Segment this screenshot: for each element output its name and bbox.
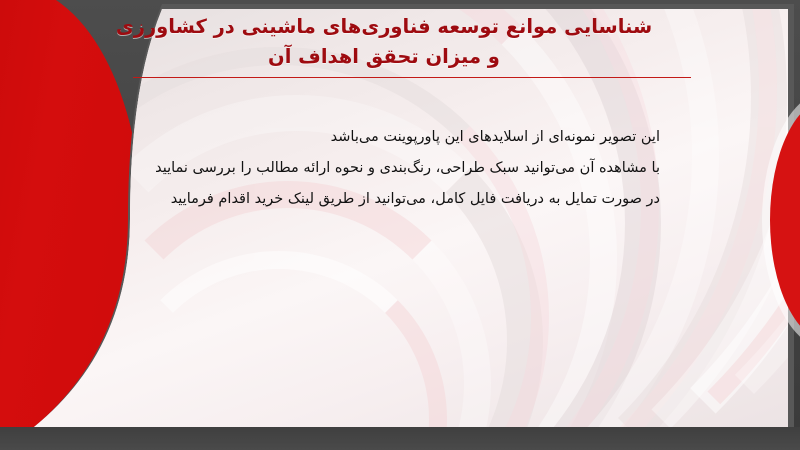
title-underline xyxy=(133,77,691,78)
body-line-2: با مشاهده آن می‌توانید سبک طراحی، رنگ‌بن… xyxy=(90,153,660,184)
slide-title: شناسایی موانع توسعه فناوری‌های ماشینی در… xyxy=(34,12,734,72)
slide-body-text: این تصویر نمونه‌ای از اسلایدهای این پاور… xyxy=(90,122,660,215)
title-line-1: شناسایی موانع توسعه فناوری‌های ماشینی در… xyxy=(34,12,734,42)
slide-bottom-band xyxy=(0,427,800,450)
slide-canvas: شناسایی موانع توسعه فناوری‌های ماشینی در… xyxy=(0,0,800,450)
body-line-3: در صورت تمایل به دریافت فایل کامل، می‌تو… xyxy=(90,184,660,215)
title-line-2: و میزان تحقق اهداف آن xyxy=(34,42,734,72)
body-line-1: این تصویر نمونه‌ای از اسلایدهای این پاور… xyxy=(90,122,660,153)
